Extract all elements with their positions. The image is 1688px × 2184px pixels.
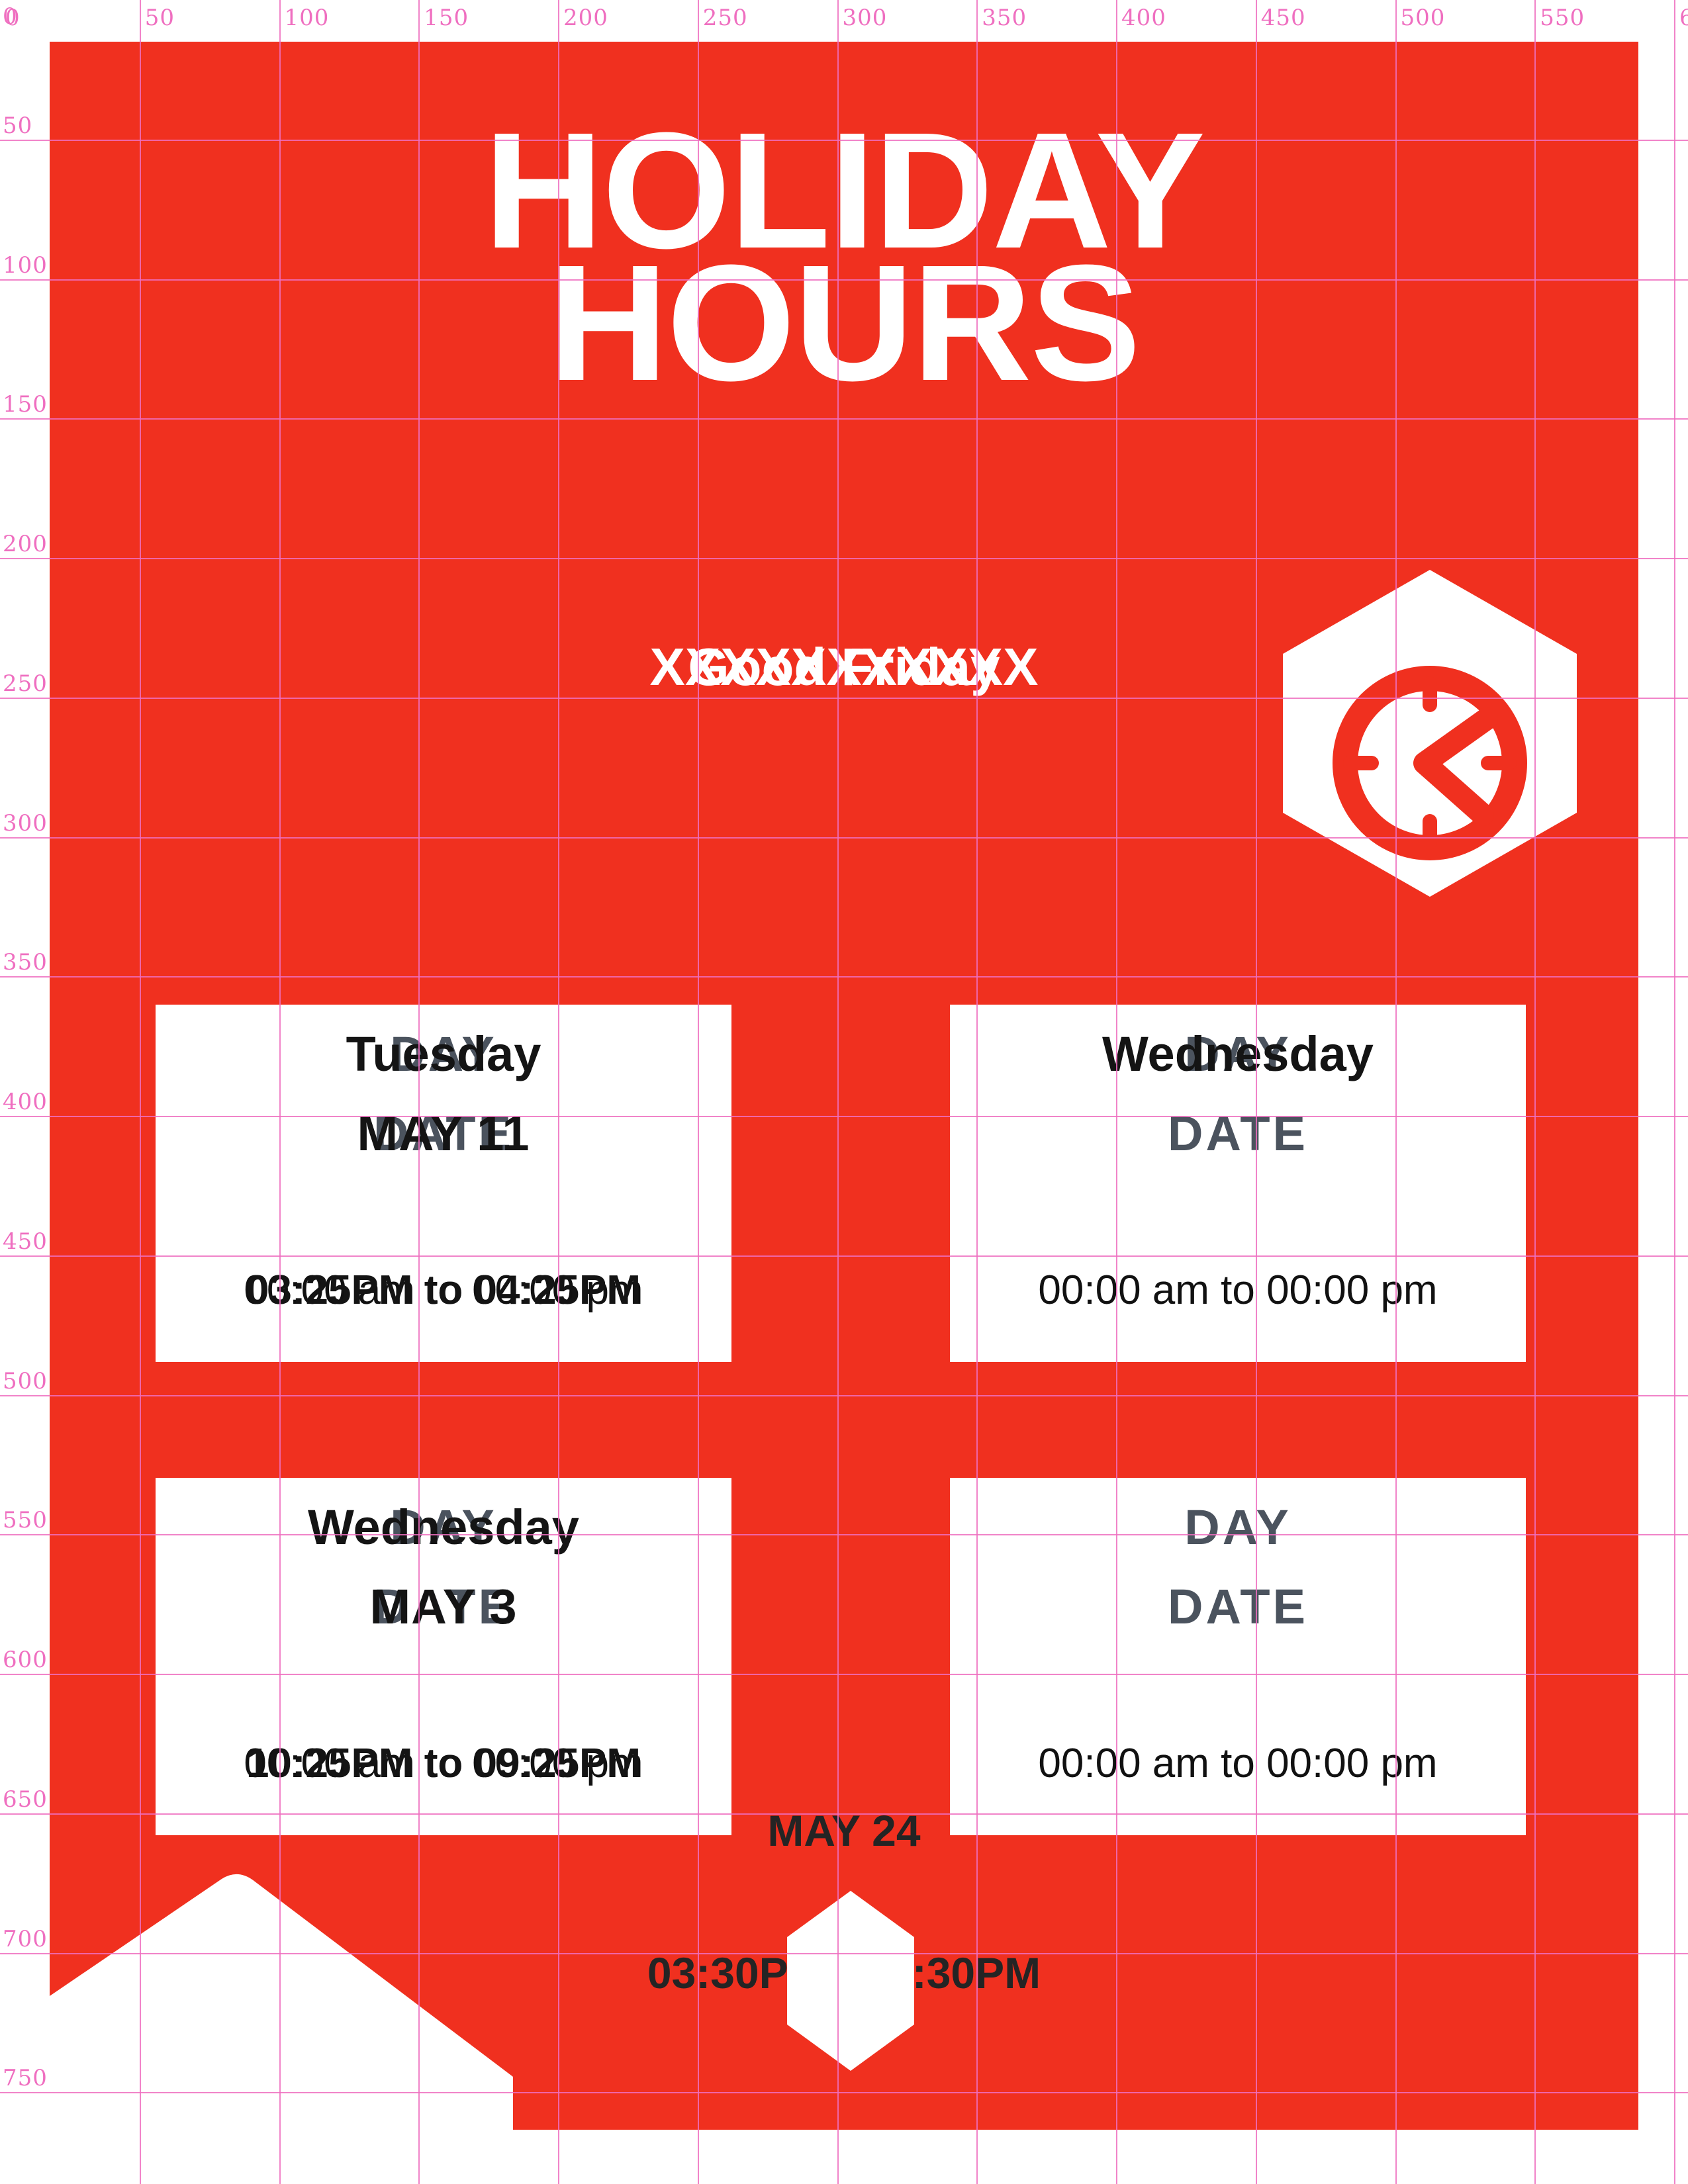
card-date-value: MAY 11 — [156, 1108, 731, 1160]
title-line-2: HOURS — [50, 257, 1638, 389]
poster-title-block: HOLIDAY HOURS — [50, 124, 1638, 389]
card-time-slot: 00:00 am to 00:00 pm — [950, 1269, 1526, 1342]
schedule-card[interactable]: DAY Wednesday DATE 00:00 am to 00:00 pm — [950, 1005, 1526, 1362]
card-date-value: MAY 3 — [156, 1581, 731, 1633]
hexagon-shape-icon — [784, 1888, 917, 2073]
card-day-value: Tuesday — [156, 1028, 731, 1080]
ruler-tick-label-y: 650 — [3, 1788, 48, 1811]
card-time-slot: 00:00 am to 00:00 pm 10:25PM to 09:25PM — [156, 1742, 731, 1815]
card-date-placeholder: DATE — [950, 1108, 1526, 1160]
ruler-tick-label-x: 50 — [145, 7, 175, 29]
ruler-tick-label-x: 350 — [982, 7, 1027, 29]
ruler-tick-label-y: 750 — [3, 2067, 48, 2089]
card-day-value: Wednesday — [156, 1502, 731, 1553]
schedule-card[interactable]: DAY DATE 00:00 am to 00:00 pm — [950, 1478, 1526, 1835]
card-day-slot: DAY — [950, 1502, 1526, 1581]
card-time-value: 03:25PM to 04:25PM — [156, 1269, 731, 1312]
schedule-card[interactable]: DAY Wednesday DATE MAY 3 00:00 am to 00:… — [156, 1478, 731, 1835]
ruler-tick-label-y: 200 — [3, 533, 48, 555]
card-date-slot: DATE — [950, 1108, 1526, 1191]
card-time-slot: 00:00 am to 00:00 pm — [950, 1742, 1526, 1815]
schedule-card[interactable]: DAY Tuesday DATE MAY 11 00:00 am to 00:0… — [156, 1005, 731, 1362]
ruler-tick-label-x: 450 — [1261, 7, 1306, 29]
ruler-tick-label-y: 550 — [3, 1509, 48, 1531]
card-day-placeholder: DAY — [950, 1502, 1526, 1553]
ruler-tick-label-y: 400 — [3, 1091, 48, 1113]
card-day-slot: DAY Wednesday — [156, 1502, 731, 1581]
ruler-tick-label-y: 600 — [3, 1649, 48, 1671]
ruler-tick-label-x: 400 — [1121, 7, 1166, 29]
ruler-tick-label-x: 0 — [5, 7, 21, 29]
ruler-tick-label-y: 150 — [3, 393, 48, 416]
ruler-tick-label-x: 100 — [285, 7, 330, 29]
ruler-tick-label-x: 60 — [1679, 7, 1688, 29]
ruler-tick-label-y: 100 — [3, 254, 48, 277]
grid-line-vertical — [1674, 0, 1675, 2184]
ruler-tick-label-x: 150 — [424, 7, 469, 29]
card-date-slot: DATE — [950, 1581, 1526, 1664]
ruler-tick-label-y: 350 — [3, 951, 48, 974]
ruler-tick-label-y: 50 — [3, 114, 32, 137]
card-day-slot: DAY Tuesday — [156, 1028, 731, 1108]
hexagon-clock-icon — [1278, 565, 1582, 902]
ruler-tick-label-x: 250 — [703, 7, 748, 29]
ruler-tick-label-x: 300 — [843, 7, 888, 29]
card-time-value: 10:25PM to 09:25PM — [156, 1742, 731, 1785]
chevron-shape-icon — [50, 1822, 513, 2130]
ruler-origin-label: 0 — [3, 5, 18, 28]
ruler-tick-label-y: 700 — [3, 1928, 48, 1950]
ruler-tick-label-y: 300 — [3, 812, 48, 835]
holiday-hours-poster: HOLIDAY HOURS XXXXXXXXXXX Good Friday DA… — [50, 42, 1638, 2130]
card-time-placeholder: 00:00 am to 00:00 pm — [950, 1742, 1526, 1785]
card-time-placeholder: 00:00 am to 00:00 pm — [950, 1269, 1526, 1312]
card-day-slot: DAY Wednesday — [950, 1028, 1526, 1108]
card-date-slot: DATE MAY 3 — [156, 1581, 731, 1664]
card-date-placeholder: DATE — [950, 1581, 1526, 1633]
page-title: HOLIDAY HOURS — [50, 124, 1638, 389]
ruler-tick-label-x: 500 — [1401, 7, 1446, 29]
ruler-tick-label-y: 500 — [3, 1370, 48, 1392]
ruler-tick-label-x: 550 — [1540, 7, 1585, 29]
card-time-slot: 00:00 am to 00:00 pm 03:25PM to 04:25PM — [156, 1269, 731, 1342]
card-date-slot: DATE MAY 11 — [156, 1108, 731, 1191]
ruler-tick-label-y: 250 — [3, 672, 48, 695]
card-day-value: Wednesday — [950, 1028, 1526, 1080]
ruler-tick-label-y: 450 — [3, 1230, 48, 1253]
ruler-tick-label-x: 200 — [563, 7, 608, 29]
